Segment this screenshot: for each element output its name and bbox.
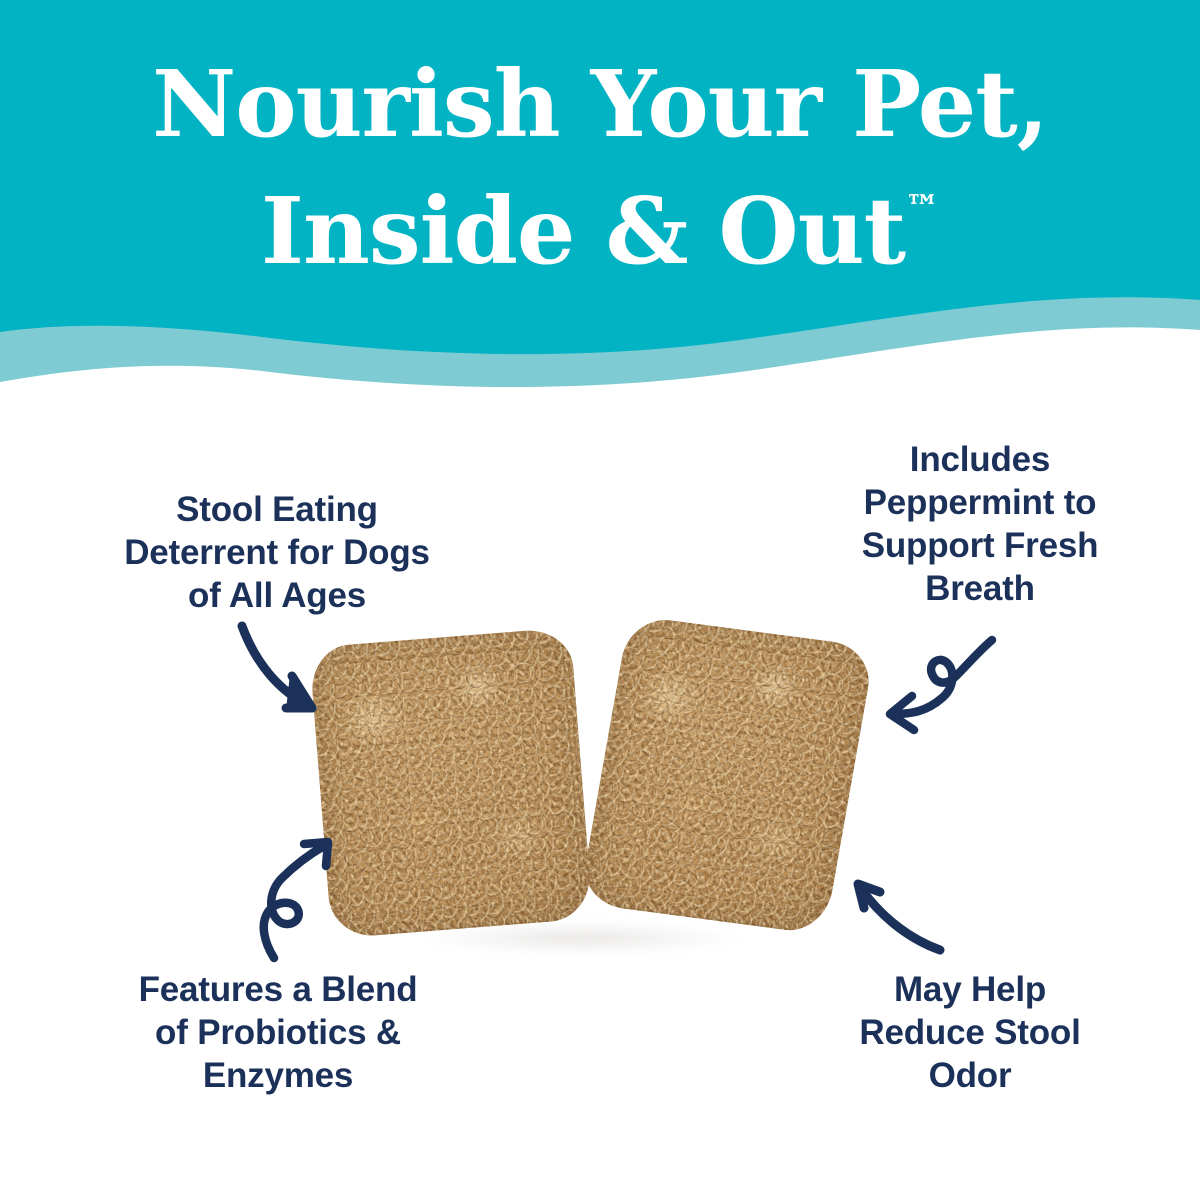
headline-line-1: Nourish Your Pet,	[0, 52, 1200, 156]
headline-line-2-text: Inside & Out	[261, 177, 905, 285]
callout-line: Deterrent for Dogs	[42, 531, 512, 574]
callout-line: Breath	[800, 567, 1160, 610]
arrow-shaft-with-loop	[264, 846, 324, 958]
pet-supplement-infographic: Nourish Your Pet, Inside & Out™ Stool Ea…	[0, 0, 1200, 1200]
callout-line: Includes	[800, 438, 1160, 481]
curved-arrow-down-right-icon	[238, 618, 358, 728]
headline-line-2: Inside & Out™	[0, 156, 1200, 283]
callout-line: Reduce Stool	[790, 1011, 1150, 1054]
callout-line: Support Fresh	[800, 524, 1160, 567]
callout-line: Enzymes	[58, 1054, 498, 1097]
callout-stool-eating-deterrent: Stool Eating Deterrent for Dogs of All A…	[42, 488, 512, 617]
header-band: Nourish Your Pet, Inside & Out™	[0, 0, 1200, 400]
callout-line: of All Ages	[42, 574, 512, 617]
callout-reduce-stool-odor: May Help Reduce Stool Odor	[790, 968, 1150, 1097]
two-soft-chew-treats-image	[320, 615, 880, 975]
looped-arrow-down-left-icon	[868, 628, 1003, 743]
curved-arrow-up-left-icon	[828, 858, 953, 963]
page-title: Nourish Your Pet, Inside & Out™	[0, 52, 1200, 283]
callout-probiotics-enzymes: Features a Blend of Probiotics & Enzymes	[58, 968, 498, 1097]
callout-line: Odor	[790, 1054, 1150, 1097]
callout-includes-peppermint: Includes Peppermint to Support Fresh Bre…	[800, 438, 1160, 610]
callout-line: Peppermint to	[800, 481, 1160, 524]
callout-line: Stool Eating	[42, 488, 512, 531]
callout-line: May Help	[790, 968, 1150, 1011]
arrow-shaft	[862, 890, 940, 950]
callout-line: of Probiotics &	[58, 1011, 498, 1054]
looped-arrow-up-right-icon	[238, 836, 358, 961]
callout-line: Features a Blend	[58, 968, 498, 1011]
trademark-symbol: ™	[905, 188, 939, 228]
